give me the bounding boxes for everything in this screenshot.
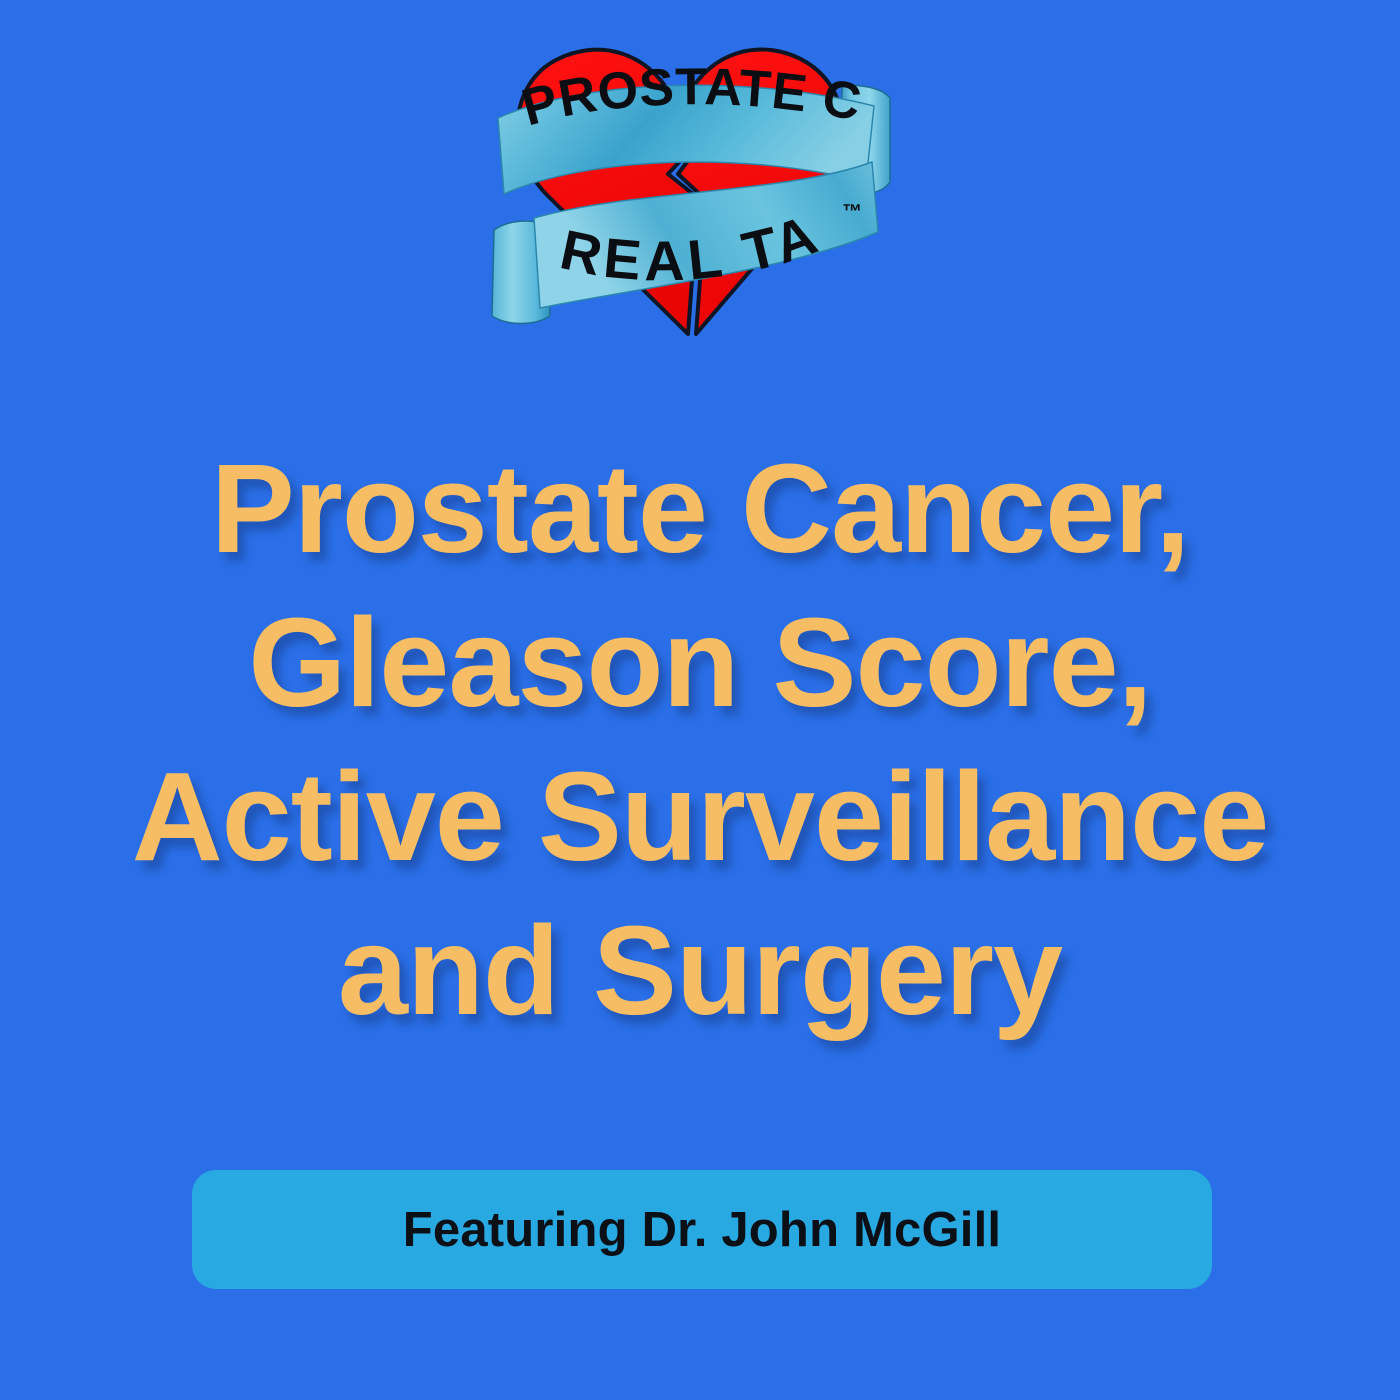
page-title: Prostate Cancer, Gleason Score, Active S… xyxy=(0,432,1400,1048)
title-line-3: Active Surveillance xyxy=(0,740,1400,894)
prostate-cancer-real-talk-logo: PROSTATE CANCER REAL TALK ™ xyxy=(490,22,920,342)
title-line-2: Gleason Score, xyxy=(0,586,1400,740)
title-line-4: and Surgery xyxy=(0,894,1400,1048)
featuring-guest-label: Featuring Dr. John McGill xyxy=(403,1202,1002,1258)
trademark-icon: ™ xyxy=(842,201,862,223)
logo-svg: PROSTATE CANCER REAL TALK ™ xyxy=(490,22,920,342)
featuring-banner: Featuring Dr. John McGill xyxy=(192,1170,1212,1289)
title-line-1: Prostate Cancer, xyxy=(0,432,1400,586)
episode-cover-canvas: PROSTATE CANCER REAL TALK ™ Prostate Can… xyxy=(0,0,1400,1400)
